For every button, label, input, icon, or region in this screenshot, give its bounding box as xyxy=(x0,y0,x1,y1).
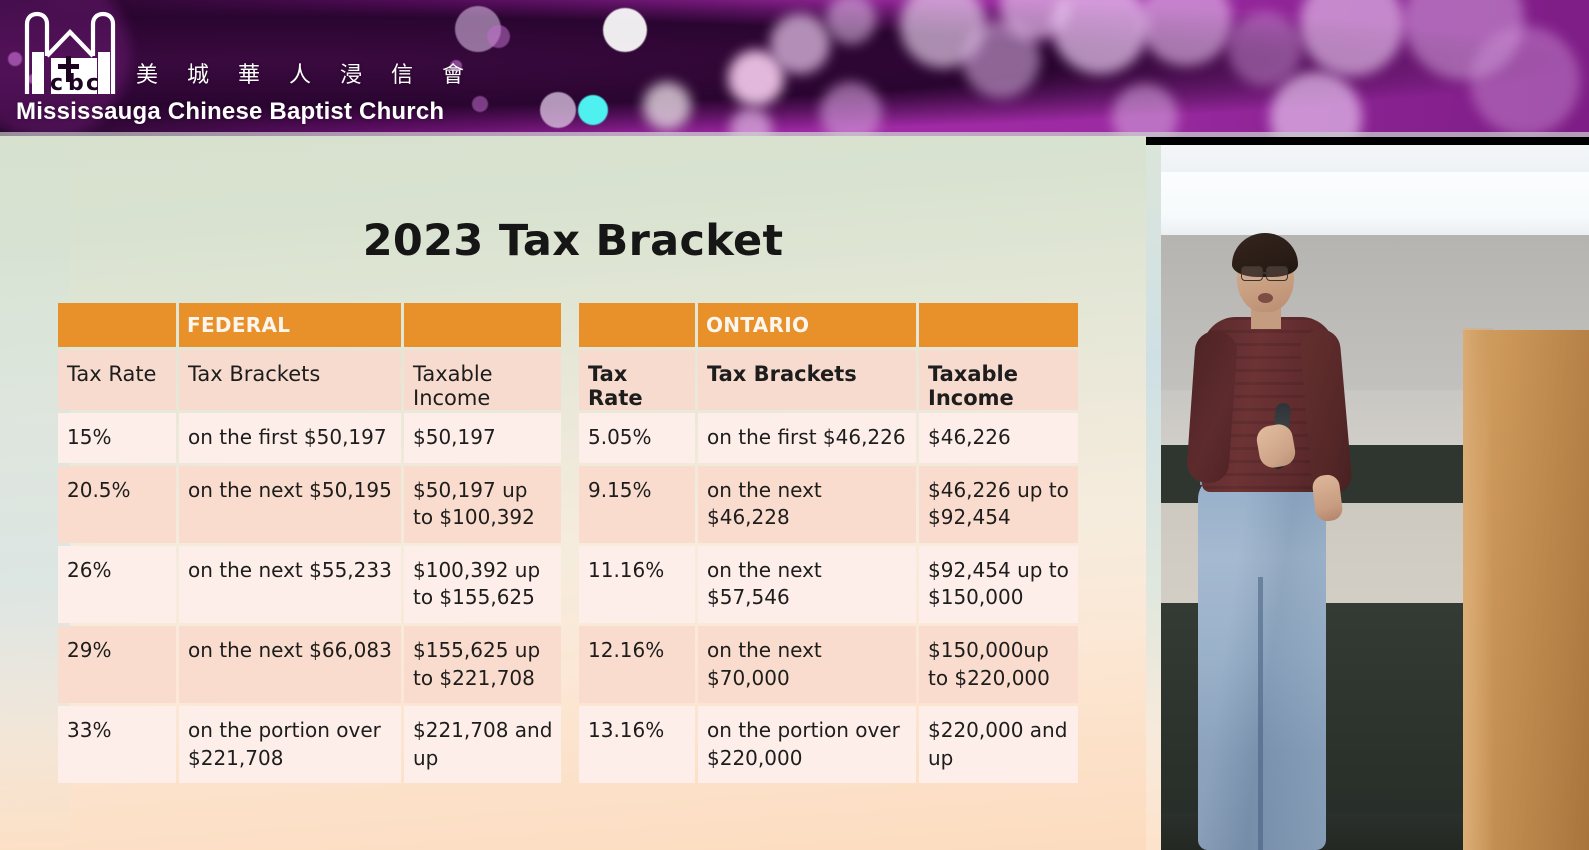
church-banner: c b c 美 城 華 人 浸 信 會 Mississauga Chinese … xyxy=(0,0,1589,137)
svg-text:c: c xyxy=(86,71,99,96)
federal-header-blank-left xyxy=(58,303,176,347)
table-row: 33% on the portion over $221,708 $221,70… xyxy=(58,706,561,783)
church-name-english: Mississauga Chinese Baptist Church xyxy=(16,98,444,126)
ontario-income: $150,000up to $220,000 xyxy=(919,626,1078,703)
bokeh-circle xyxy=(643,82,691,130)
ontario-income: $46,226 up to $92,454 xyxy=(919,466,1078,543)
screen: c b c 美 城 華 人 浸 信 會 Mississauga Chinese … xyxy=(0,0,1589,850)
federal-bracket: on the portion over $221,708 xyxy=(179,706,401,783)
federal-rate: 20.5% xyxy=(58,466,176,543)
federal-bracket: on the next $50,195 xyxy=(179,466,401,543)
federal-col-tax-brackets: Tax Brackets xyxy=(179,350,401,410)
table-header-row: FEDERAL xyxy=(58,303,561,347)
bokeh-circle xyxy=(603,8,647,52)
table-header-row: ONTARIO xyxy=(579,303,1078,347)
presenter-jeans-seam xyxy=(1258,577,1263,850)
bokeh-circle xyxy=(1140,0,1232,66)
church-logo: c b c 美 城 華 人 浸 信 會 Mississauga Chinese … xyxy=(8,2,428,132)
table-row: 11.16% on the next $57,546 $92,454 up to… xyxy=(579,546,1078,623)
federal-bracket: on the next $66,083 xyxy=(179,626,401,703)
table-row: 9.15% on the next $46,228 $46,226 up to … xyxy=(579,466,1078,543)
bokeh-circle xyxy=(1052,0,1148,74)
federal-bracket: on the next $55,233 xyxy=(179,546,401,623)
ontario-header-blank-right xyxy=(919,303,1078,347)
ontario-rate: 9.15% xyxy=(579,466,695,543)
table-subheader-row: Tax Rate Tax Brackets Taxable Income xyxy=(579,350,1078,410)
bokeh-circle xyxy=(826,0,876,44)
ontario-rate: 11.16% xyxy=(579,546,695,623)
bokeh-circle xyxy=(1112,84,1178,137)
federal-bracket: on the first $50,197 xyxy=(179,413,401,463)
svg-text:c: c xyxy=(50,71,63,96)
ontario-bracket: on the next $46,228 xyxy=(698,466,916,543)
bokeh-circle xyxy=(487,25,510,48)
church-name-chinese: 美 城 華 人 浸 信 會 xyxy=(136,57,475,89)
ontario-income: $46,226 xyxy=(919,413,1078,463)
ontario-tax-table: ONTARIO Tax Rate Tax Brackets Taxable In… xyxy=(576,300,1081,786)
projection-screen xyxy=(1146,172,1589,235)
ontario-col-tax-rate: Tax Rate xyxy=(579,350,695,410)
bokeh-circle xyxy=(1228,12,1302,86)
bokeh-circle xyxy=(1470,26,1580,136)
ontario-header-blank-left xyxy=(579,303,695,347)
federal-rate: 26% xyxy=(58,546,176,623)
table-row: 13.16% on the portion over $220,000 $220… xyxy=(579,706,1078,783)
ontario-income: $220,000 and up xyxy=(919,706,1078,783)
federal-income: $50,197 xyxy=(404,413,561,463)
federal-income: $50,197 up to $100,392 xyxy=(404,466,561,543)
bokeh-circle-cyan xyxy=(578,95,608,125)
federal-rate: 33% xyxy=(58,706,176,783)
glasses-left-lens-icon xyxy=(1241,266,1263,281)
ontario-bracket: on the first $46,226 xyxy=(698,413,916,463)
ontario-rate: 13.16% xyxy=(579,706,695,783)
video-left-seam xyxy=(1146,145,1161,850)
bokeh-circle xyxy=(1270,72,1362,137)
ontario-bracket: on the next $57,546 xyxy=(698,546,916,623)
bokeh-circle xyxy=(820,82,882,137)
table-row: 29% on the next $66,083 $155,625 up to $… xyxy=(58,626,561,703)
slide-title: 2023 Tax Bracket xyxy=(0,216,1146,266)
ontario-rate: 12.16% xyxy=(579,626,695,703)
federal-rate: 29% xyxy=(58,626,176,703)
federal-income: $221,708 and up xyxy=(404,706,561,783)
table-row: 12.16% on the next $70,000 $150,000up to… xyxy=(579,626,1078,703)
bokeh-circle xyxy=(540,92,576,128)
federal-header-blank-right xyxy=(404,303,561,347)
presenter-video-feed xyxy=(1146,145,1589,850)
ontario-col-tax-brackets: Tax Brackets xyxy=(698,350,916,410)
federal-region-label: FEDERAL xyxy=(179,303,401,347)
glasses-bridge xyxy=(1262,272,1268,274)
table-row: 20.5% on the next $50,195 $50,197 up to … xyxy=(58,466,561,543)
church-building-logo-icon: c b c xyxy=(20,6,128,98)
ontario-bracket: on the next $70,000 xyxy=(698,626,916,703)
presenter-mouth xyxy=(1258,293,1273,303)
glasses-right-lens-icon xyxy=(1266,266,1288,281)
table-row: 5.05% on the first $46,226 $46,226 xyxy=(579,413,1078,463)
ontario-region-label: ONTARIO xyxy=(698,303,916,347)
bokeh-circle xyxy=(770,14,830,74)
table-subheader-row: Tax Rate Tax Brackets Taxable Income xyxy=(58,350,561,410)
bokeh-circle xyxy=(1300,0,1404,76)
federal-tax-table: FEDERAL Tax Rate Tax Brackets Taxable In… xyxy=(55,300,564,786)
room-ceiling xyxy=(1146,145,1589,172)
svg-text:b: b xyxy=(68,71,84,96)
presentation-slide: 2023 Tax Bracket FEDERAL Tax Rate Tax Br… xyxy=(0,136,1146,850)
table-row: 26% on the next $55,233 $100,392 up to $… xyxy=(58,546,561,623)
federal-col-taxable-income: Taxable Income xyxy=(404,350,561,410)
ontario-income: $92,454 up to $150,000 xyxy=(919,546,1078,623)
ontario-rate: 5.05% xyxy=(579,413,695,463)
podium-edge xyxy=(1463,328,1493,850)
federal-col-tax-rate: Tax Rate xyxy=(58,350,176,410)
federal-rate: 15% xyxy=(58,413,176,463)
ontario-col-taxable-income: Taxable Income xyxy=(919,350,1078,410)
table-row: 15% on the first $50,197 $50,197 xyxy=(58,413,561,463)
federal-income: $155,625 up to $221,708 xyxy=(404,626,561,703)
federal-income: $100,392 up to $155,625 xyxy=(404,546,561,623)
bokeh-circle xyxy=(472,96,488,112)
ontario-bracket: on the portion over $220,000 xyxy=(698,706,916,783)
